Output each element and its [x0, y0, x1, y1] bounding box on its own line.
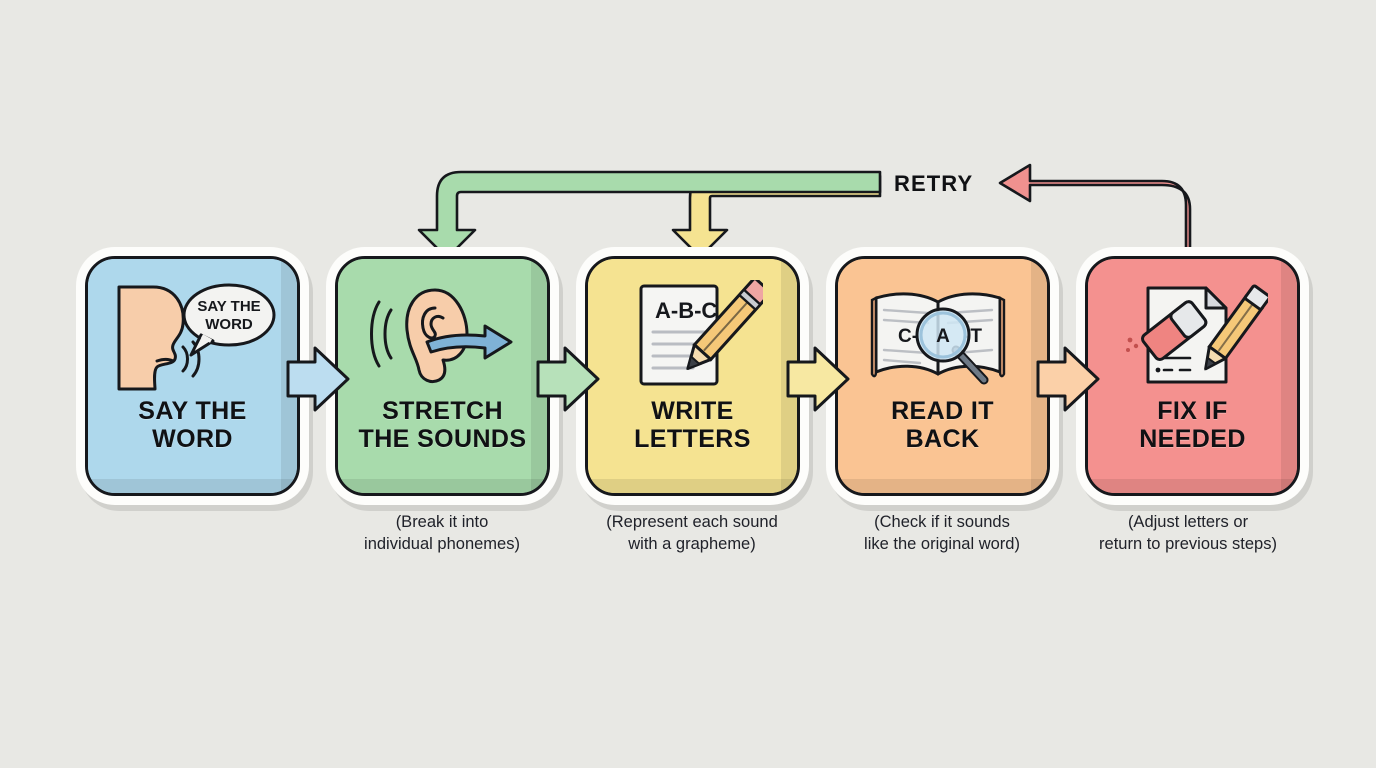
card-title: WRITE LETTERS	[634, 397, 751, 453]
card-title-line1: SAY THE	[138, 397, 246, 425]
eraser-pencil-paper-icon	[1118, 280, 1268, 392]
speaking-head-icon: SAY THE WORD	[105, 279, 280, 394]
card-title-line1: FIX IF	[1157, 397, 1227, 425]
step-subtitle-read-it-back: (Check if it sounds like the original wo…	[817, 512, 1067, 556]
retry-label: RETRY	[894, 171, 973, 197]
retry-arrow-to-stretch-the-sounds	[419, 172, 880, 258]
card-title: STRETCH THE SOUNDS	[359, 397, 527, 453]
icon-container: A-B-C	[623, 277, 763, 395]
card-title-line1: WRITE	[651, 397, 734, 425]
step-card-read-it-back[interactable]: C- -T A READ IT BACK	[835, 256, 1050, 496]
bubble-text-line1: SAY THE	[197, 298, 260, 315]
book-magnifier-icon: C- -T A	[868, 280, 1018, 392]
card-content: SAY THE WORD SAY THE WORD	[88, 259, 297, 493]
card-title-line2: THE SOUNDS	[359, 425, 527, 453]
icon-container: SAY THE WORD	[105, 277, 280, 395]
step-subtitle-fix-if-needed: (Adjust letters or return to previous st…	[1063, 512, 1313, 556]
diagram-canvas: RETRY SAY THE	[0, 0, 1376, 768]
subtitle-line1: (Break it into	[396, 513, 489, 531]
ear-listening-icon	[363, 280, 523, 392]
card-title-line2: NEEDED	[1139, 425, 1246, 453]
card-title: READ IT BACK	[891, 397, 994, 453]
icon-container: C- -T A	[868, 277, 1018, 395]
subtitle-line2: like the original word)	[817, 534, 1067, 556]
book-text-left: C-	[898, 326, 918, 347]
magnifier-letter: A	[936, 326, 950, 347]
card-content: FIX IF NEEDED	[1088, 259, 1297, 493]
card-content: STRETCH THE SOUNDS	[338, 259, 547, 493]
subtitle-line2: individual phonemes)	[317, 534, 567, 556]
eraser-crumbs	[1126, 338, 1138, 352]
icon-container	[363, 277, 523, 395]
bubble-text-line2: WORD	[205, 316, 253, 333]
card-content: A-B-C	[588, 259, 797, 493]
card-title-line2: WORD	[138, 425, 246, 453]
subtitle-line1: (Adjust letters or	[1128, 513, 1248, 531]
subtitle-line2: return to previous steps)	[1063, 534, 1313, 556]
card-title-line1: STRETCH	[382, 397, 503, 425]
subtitle-line1: (Represent each sound	[606, 513, 778, 531]
subtitle-line1: (Check if it sounds	[874, 513, 1010, 531]
step-subtitle-write-letters: (Represent each sound with a grapheme)	[567, 512, 817, 556]
card-title-line1: READ IT	[891, 397, 994, 425]
step-card-say-the-word[interactable]: SAY THE WORD SAY THE WORD	[85, 256, 300, 496]
paper-letters-text: A-B-C	[655, 298, 717, 323]
paper-pencil-icon: A-B-C	[623, 280, 763, 392]
step-card-write-letters[interactable]: A-B-C	[585, 256, 800, 496]
retry-arrow-from-fix-if-needed	[1000, 165, 1190, 256]
card-title-line2: LETTERS	[634, 425, 751, 453]
subtitle-line2: with a grapheme)	[567, 534, 817, 556]
card-title-line2: BACK	[891, 425, 994, 453]
step-card-fix-if-needed[interactable]: FIX IF NEEDED	[1085, 256, 1300, 496]
step-subtitle-stretch-the-sounds: (Break it into individual phonemes)	[317, 512, 567, 556]
card-title: SAY THE WORD	[138, 397, 246, 453]
icon-container	[1118, 277, 1268, 395]
step-card-stretch-the-sounds[interactable]: STRETCH THE SOUNDS	[335, 256, 550, 496]
card-content: C- -T A READ IT BACK	[838, 259, 1047, 493]
card-title: FIX IF NEEDED	[1139, 397, 1246, 453]
